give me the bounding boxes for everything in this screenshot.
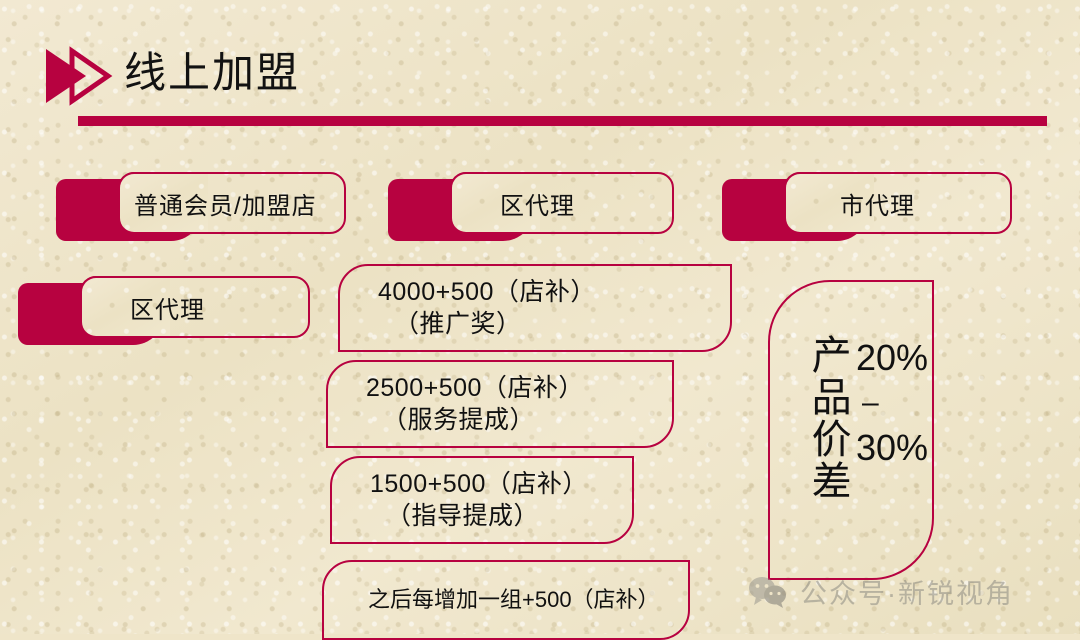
double-triangle-arrow-icon	[42, 45, 116, 107]
price-difference-label: 产品价差	[804, 334, 850, 502]
price-range-top: 20%	[856, 340, 928, 376]
reward-box-guidance: 1500+500（店补） （指导提成）	[330, 456, 634, 544]
tier-tag-label: 区代理	[130, 276, 205, 338]
page-title: 线上加盟	[124, 42, 300, 104]
reward-box-additional-group: 之后每增加一组+500（店补）	[322, 560, 690, 640]
tier-tag-label: 普通会员/加盟店	[134, 172, 317, 234]
tier-tag-district-agent[interactable]: 区代理	[388, 172, 674, 234]
tier-tag-city-agent[interactable]: 市代理	[722, 172, 1012, 234]
reward-box-promotion: 4000+500（店补） （推广奖）	[338, 264, 732, 352]
reward-box-line-1: 4000+500（店补）	[378, 276, 730, 309]
watermark-text: 公众号·新锐视角	[800, 572, 1014, 611]
reward-box-service: 2500+500（店补） （服务提成）	[326, 360, 674, 448]
price-difference-panel: 产品价差 20% – 30%	[768, 280, 934, 580]
reward-box-line-1: 1500+500（店补）	[370, 468, 632, 501]
price-difference-range: 20% – 30%	[856, 340, 948, 466]
watermark: 公众号·新锐视角	[748, 572, 1014, 611]
price-range-bottom: 30%	[856, 430, 928, 466]
slide-canvas: 线上加盟 普通会员/加盟店 区代理 市代理 区代理 4000+500（店补） （…	[0, 0, 1080, 634]
reward-box-line-1: 2500+500（店补）	[366, 372, 672, 405]
reward-box-line-2: （指导提成）	[370, 500, 632, 533]
reward-box-line-2: （服务提成）	[366, 404, 672, 437]
price-range-dash: –	[856, 376, 879, 430]
tier-tag-label: 市代理	[840, 172, 915, 234]
reward-box-line-2: （推广奖）	[378, 308, 730, 341]
reward-box-line-1: 之后每增加一组+500（店补）	[368, 586, 688, 615]
title-underline-bar	[78, 116, 1047, 126]
tier-tag-district-agent-detail[interactable]: 区代理	[18, 276, 310, 338]
wechat-icon	[748, 575, 788, 609]
tier-tag-member[interactable]: 普通会员/加盟店	[56, 172, 346, 234]
tier-tag-label: 区代理	[500, 172, 575, 234]
